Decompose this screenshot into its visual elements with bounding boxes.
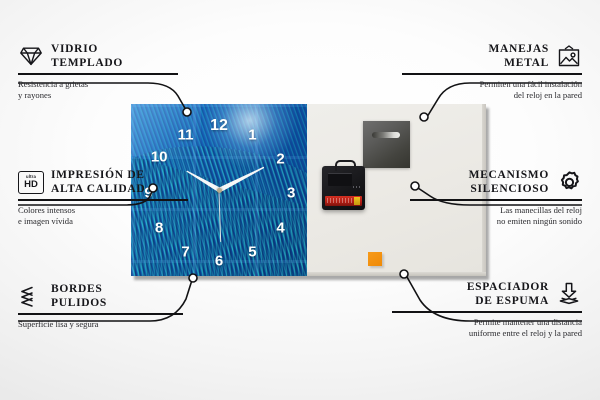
battery-label — [327, 198, 352, 203]
clock-number-2: 2 — [276, 152, 284, 167]
callout-title-line2: TEMPLADO — [51, 56, 123, 70]
callout-description: Resistencia a grietas y rayones — [18, 79, 178, 102]
callout-title-line1: MECANISMO — [469, 168, 549, 182]
callout-rule — [18, 199, 188, 201]
battery — [325, 196, 362, 206]
callout-rule — [18, 73, 178, 75]
callout-impresion-alta-calidad[interactable]: ultra HD IMPRESIÓN DE ALTA CALIDAD Color… — [18, 168, 188, 228]
callout-description: Colores intensos e imagen vívida — [18, 205, 188, 228]
callout-title-group: IMPRESIÓN DE ALTA CALIDAD — [51, 168, 145, 196]
callout-title-group: ESPACIADOR DE ESPUMA — [467, 280, 549, 308]
clock-number-3: 3 — [287, 186, 295, 201]
callout-title-line2: ALTA CALIDAD — [51, 182, 145, 196]
callout-mecanismo-silencioso[interactable]: MECANISMO SILENCIOSO Las manecillas del … — [410, 168, 582, 228]
callout-rule — [410, 199, 582, 201]
clock-number-11: 11 — [178, 127, 194, 142]
clock-number-12: 12 — [210, 118, 228, 134]
callout-title-line2: METAL — [489, 56, 550, 70]
battery-tip — [354, 197, 360, 205]
callout-description: Permiten una fácil instalación del reloj… — [402, 79, 582, 102]
clock-number-10: 10 — [151, 150, 168, 165]
ultra-hd-icon: ultra HD — [18, 169, 44, 195]
callout-title-line2: PULIDOS — [51, 296, 107, 310]
callout-title-line1: BORDES — [51, 282, 107, 296]
callout-espaciador-espuma[interactable]: ESPACIADOR DE ESPUMA Permite mantener un… — [392, 280, 582, 340]
foam-spacer-icon — [556, 281, 582, 307]
mechanism-label-dots — [353, 186, 361, 188]
wall-hanging-icon — [556, 43, 582, 69]
mechanism-handle — [335, 160, 356, 171]
diamond-icon — [18, 43, 44, 69]
callout-title-group: BORDES PULIDOS — [51, 282, 107, 310]
callout-description: Las manecillas del reloj no emiten ningú… — [410, 205, 582, 228]
callout-bordes-pulidos[interactable]: BORDES PULIDOS Superficie lisa y segura — [18, 282, 183, 330]
callout-manejas-metal[interactable]: MANEJAS METAL Permiten una fácil instala… — [402, 42, 582, 102]
metal-hanger — [363, 121, 410, 168]
clock-number-1: 1 — [248, 127, 256, 142]
gear-icon — [556, 169, 582, 195]
callout-title-line2: DE ESPUMA — [467, 294, 549, 308]
callout-vidrio-templado[interactable]: VIDRIO TEMPLADO Resistencia a grietas y … — [18, 42, 178, 102]
mechanism-detail — [328, 173, 352, 186]
callout-title-line1: VIDRIO — [51, 42, 123, 56]
callout-title-line1: MANEJAS — [489, 42, 550, 56]
callout-title-group: MECANISMO SILENCIOSO — [469, 168, 549, 196]
callout-title-group: MANEJAS METAL — [489, 42, 550, 70]
callout-title-line1: ESPACIADOR — [467, 280, 549, 294]
infographic-canvas: 12 1 2 3 4 5 6 7 8 9 10 11 — [0, 0, 600, 400]
foam-spacer — [368, 252, 382, 266]
back-panel-edge-bottom — [307, 272, 486, 276]
callout-title-line1: IMPRESIÓN DE — [51, 168, 145, 182]
callout-title-group: VIDRIO TEMPLADO — [51, 42, 123, 70]
ultra-hd-icon-main-text: HD — [24, 180, 38, 190]
hanger-slot — [372, 132, 400, 138]
callout-description: Permite mantener una distancia uniforme … — [392, 317, 582, 340]
clock-center-cap — [217, 188, 222, 193]
polished-edges-icon — [18, 283, 44, 309]
callout-rule — [18, 313, 183, 315]
callout-rule — [392, 311, 582, 313]
callout-title-line2: SILENCIOSO — [469, 182, 549, 196]
callout-rule — [402, 73, 582, 75]
callout-description: Superficie lisa y segura — [18, 319, 183, 331]
clock-number-4: 4 — [276, 220, 284, 235]
clock-number-6: 6 — [215, 253, 223, 268]
clock-number-7: 7 — [181, 244, 189, 259]
clock-number-5: 5 — [248, 244, 256, 259]
quartz-mechanism — [322, 166, 365, 210]
